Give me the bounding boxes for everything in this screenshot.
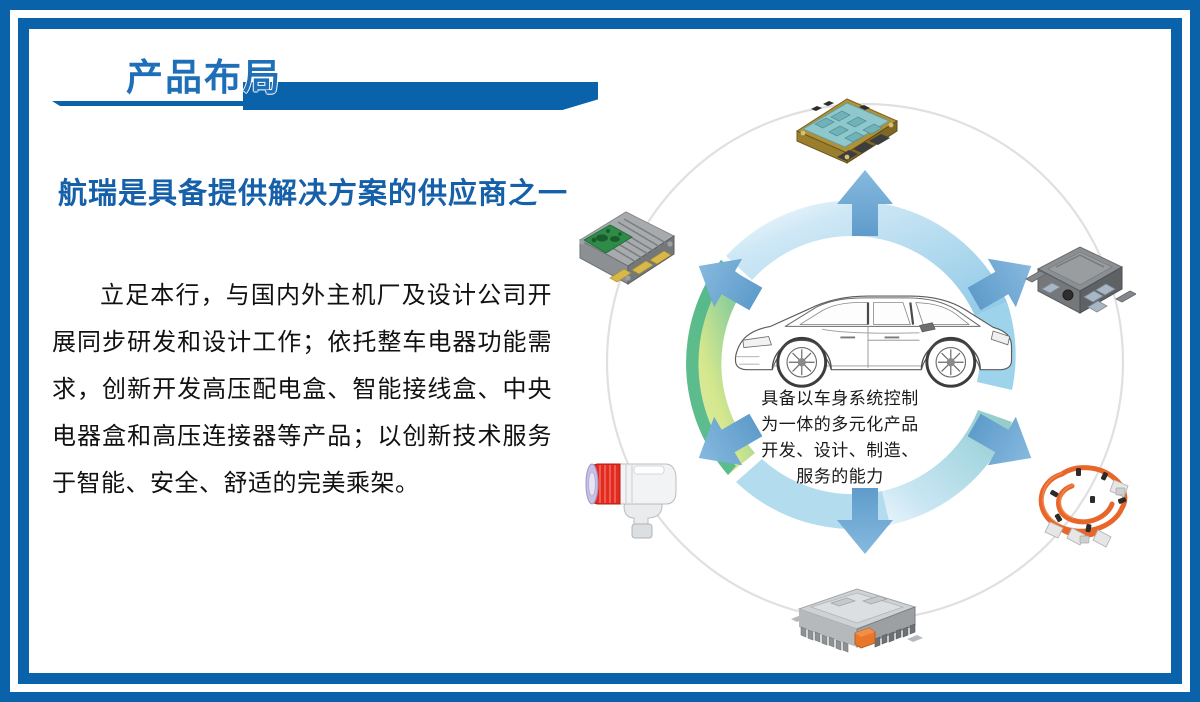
- product-power-distribution-unit[interactable]: [775, 580, 925, 656]
- sedan-car-line-drawing: [736, 296, 1012, 386]
- product-high-voltage-wire-harness[interactable]: [1028, 452, 1148, 548]
- section-subtitle: 航瑞是具备提供解决方案的供应商之一: [58, 170, 598, 212]
- banner-underline: [52, 101, 382, 106]
- product-fuse-relay-pcb-module[interactable]: [785, 83, 905, 167]
- caption-line-4: 服务的能力: [712, 464, 968, 490]
- page-title: 产品布局: [126, 56, 282, 100]
- slide-root: 产品布局 航瑞是具备提供解决方案的供应商之一 立足本行，与国内外主机厂及设计公司…: [0, 0, 1200, 702]
- diagram-center-caption: 具备以车身系统控制 为一体的多元化产品 开发、设计、制造、 服务的能力: [712, 386, 968, 490]
- product-high-voltage-junction-box[interactable]: [1018, 235, 1136, 321]
- section-body-text: 立足本行，与国内外主机厂及设计公司开展同步研发和设计工作；依托整车电器功能需求，…: [52, 272, 552, 507]
- title-banner: 产品布局: [48, 60, 608, 112]
- caption-line-1: 具备以车身系统控制: [712, 386, 968, 412]
- product-heat-sink-control-module[interactable]: [566, 200, 686, 294]
- caption-line-2: 为一体的多元化产品: [712, 412, 968, 438]
- caption-line-3: 开发、设计、制造、: [712, 438, 968, 464]
- product-high-voltage-connector[interactable]: [578, 440, 688, 540]
